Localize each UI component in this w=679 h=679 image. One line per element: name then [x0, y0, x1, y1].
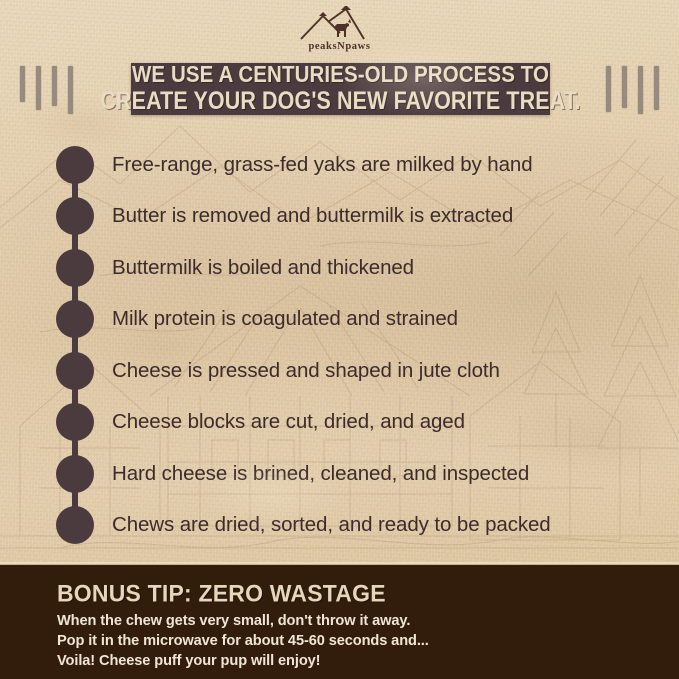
brand-wordmark: peaksNpaws [308, 41, 370, 52]
decor-bar [638, 66, 643, 114]
decor-bar [68, 66, 73, 114]
timeline-step: Butter is removed and buttermilk is extr… [0, 191, 679, 243]
mountains-with-dog-icon [297, 6, 383, 42]
decor-bar [52, 66, 57, 106]
bonus-tip-line-3: Voila! Cheese puff your pup will enjoy! [57, 653, 429, 669]
timeline-step: Milk protein is coagulated and strained [0, 294, 679, 346]
timeline-step: Chews are dried, sorted, and ready to be… [0, 500, 679, 552]
timeline-step: Cheese is pressed and shaped in jute clo… [0, 345, 679, 397]
poster-body: peaksNpaws We use a centuries-old proces… [0, 0, 679, 562]
timeline-step-label: Chews are dried, sorted, and ready to be… [112, 513, 551, 537]
bonus-tip-section: Bonus tip: Zero wastage When the chew ge… [0, 565, 679, 679]
timeline-step-label: Hard cheese is brined, cleaned, and insp… [112, 462, 529, 486]
decor-bar [654, 66, 659, 110]
timeline-step-label: Milk protein is coagulated and strained [112, 307, 458, 331]
timeline-step: Buttermilk is boiled and thickened [0, 242, 679, 294]
bonus-tip-text-block: Bonus tip: Zero wastage When the chew ge… [57, 580, 429, 669]
bonus-tip-title: Bonus tip: Zero wastage [57, 579, 429, 608]
bonus-tip-line-1: When the chew gets very small, don't thr… [57, 613, 429, 629]
timeline-bullet [56, 403, 94, 441]
timeline-step-label: Butter is removed and buttermilk is extr… [112, 204, 513, 228]
timeline-bullet [56, 352, 94, 390]
headline-line-1: We use a centuries-old process to [132, 63, 549, 86]
timeline-step-label: Free-range, grass-fed yaks are milked by… [112, 153, 533, 177]
decor-bars-left [20, 66, 73, 114]
timeline-bullet [56, 249, 94, 287]
timeline-bullet [56, 506, 94, 544]
timeline-bullet [56, 146, 94, 184]
decor-bar [606, 66, 611, 112]
decor-bars-right [606, 66, 659, 114]
timeline-step-label: Buttermilk is boiled and thickened [112, 256, 414, 280]
timeline-step-label: Cheese is pressed and shaped in jute clo… [112, 359, 500, 383]
timeline-step: Hard cheese is brined, cleaned, and insp… [0, 448, 679, 500]
timeline-step: Free-range, grass-fed yaks are milked by… [0, 139, 679, 191]
decor-bar [36, 66, 41, 110]
headline-line-2: create your dog's new favorite treat. [100, 89, 580, 114]
process-timeline: Free-range, grass-fed yaks are milked by… [0, 139, 679, 551]
decor-bar [622, 66, 627, 108]
timeline-step-label: Cheese blocks are cut, dried, and aged [112, 410, 465, 434]
timeline-bullet [56, 197, 94, 235]
headline-banner: We use a centuries-old process to create… [131, 63, 550, 115]
timeline-bullet [56, 455, 94, 493]
bonus-tip-line-2: Pop it in the microwave for about 45-60 … [57, 633, 429, 649]
timeline-bullet [56, 300, 94, 338]
brand-logo: peaksNpaws [0, 6, 679, 56]
decor-bar [20, 66, 25, 102]
timeline-step: Cheese blocks are cut, dried, and aged [0, 397, 679, 449]
